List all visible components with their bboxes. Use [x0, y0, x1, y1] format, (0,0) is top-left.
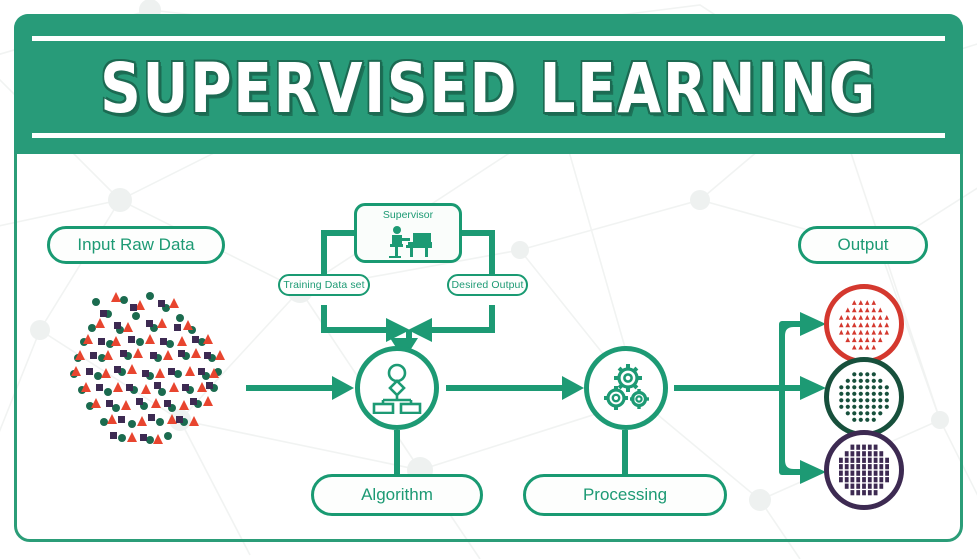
square-cluster-icon [836, 442, 892, 498]
circle-cluster-icon [836, 369, 892, 425]
input-raw-data-label: Input Raw Data [47, 226, 225, 264]
output-class-green [824, 357, 904, 437]
supervisor-box: Supervisor [354, 203, 462, 263]
infographic-canvas: SUPERVISED LEARNING [0, 0, 977, 559]
page-title: SUPERVISED LEARNING [99, 44, 877, 134]
algorithm-text: Algorithm [361, 485, 433, 505]
banner-rule-top [32, 36, 945, 41]
supervisor-label: Supervisor [357, 209, 459, 221]
input-raw-data-text: Input Raw Data [77, 235, 194, 255]
input-scatter-plot [62, 284, 242, 454]
triangle-cluster-icon [836, 297, 892, 351]
desired-output-text: Desired Output [451, 279, 523, 291]
output-label: Output [798, 226, 928, 264]
processing-text: Processing [583, 485, 667, 505]
algorithm-node [355, 346, 439, 430]
flowchart-icon [371, 362, 423, 414]
output-text: Output [837, 235, 888, 255]
output-class-red [824, 284, 904, 364]
output-class-purple [824, 430, 904, 510]
person-at-desk-icon [380, 225, 436, 259]
gears-icon [599, 362, 653, 414]
diagram-body: Input Raw Data [14, 154, 963, 542]
training-data-set-label: Training Data set [278, 274, 370, 296]
desired-output-label: Desired Output [447, 274, 528, 296]
algorithm-label: Algorithm [311, 474, 483, 516]
training-data-set-text: Training Data set [283, 279, 364, 291]
processing-label: Processing [523, 474, 727, 516]
title-banner: SUPERVISED LEARNING [14, 14, 963, 154]
processing-node [584, 346, 668, 430]
